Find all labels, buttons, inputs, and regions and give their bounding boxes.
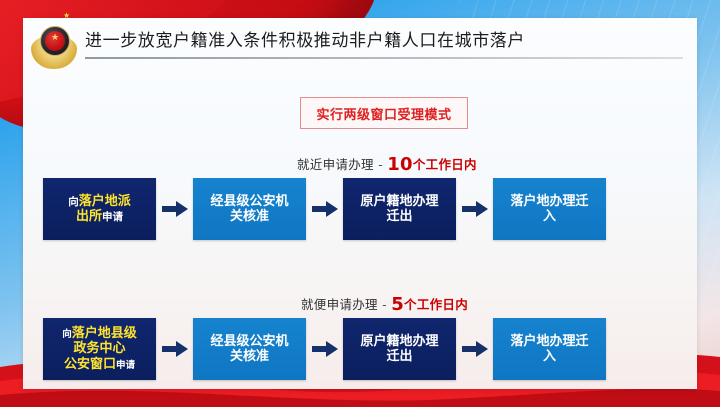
callout-banner: 实行两级窗口受理模式 [300, 97, 468, 129]
flow-row-2: 向落户地县级政务中心公安窗口申请经县级公安机关核准原户籍地办理迁出落户地办理迁入 [43, 318, 606, 380]
arrow-right-icon [156, 178, 193, 240]
page-title: 进一步放宽户籍准入条件积极推动非户籍人口在城市落户 [85, 26, 525, 51]
flow-node-segment: 公安窗口 [64, 357, 116, 372]
flow-row-1: 向落户地派出所申请经县级公安机关核准原户籍地办理迁出落户地办理迁入 [43, 178, 606, 240]
label-days-unit: 个工作日内 [404, 297, 468, 312]
label-prefix: 就便申请办理 [301, 297, 378, 312]
content-card: ★ 进一步放宽户籍准入条件积极推动非户籍人口在城市落户 实行两级窗口受理模式 就… [23, 18, 697, 389]
arrow-right-icon [456, 178, 493, 240]
flow-node-r2-1[interactable]: 向落户地县级政务中心公安窗口申请 [43, 318, 156, 380]
flow-node-segment: 出所 [76, 209, 102, 224]
flow-node-r1-2[interactable]: 经县级公安机关核准 [193, 178, 306, 240]
flow-node-r1-3[interactable]: 原户籍地办理迁出 [343, 178, 456, 240]
flow-node-text: 经县级公安机关核准 [210, 194, 288, 225]
card-header: ★ 进一步放宽户籍准入条件积极推动非户籍人口在城市落户 [23, 18, 697, 64]
label-days-number: 5 [391, 294, 404, 315]
flow-node-text: 落户地办理迁入 [510, 194, 588, 225]
flow-node-segment: 落户地办理迁 [510, 194, 588, 209]
flow-node-segment: 经县级公安机 [210, 194, 288, 209]
flow-node-segment: 政务中心 [73, 341, 125, 356]
flow-node-segment: 迁出 [386, 349, 412, 364]
flow-node-segment: 入 [543, 349, 556, 364]
badge-core: ★ [40, 26, 70, 56]
flow-node-segment: 落户地派 [79, 194, 131, 209]
label-separator: - [378, 157, 383, 172]
flow-row-label-1: 就近申请办理 - 10个工作日内 [297, 154, 477, 175]
label-prefix: 就近申请办理 [297, 157, 374, 172]
flow-node-segment: 落户地县级 [72, 326, 137, 341]
flow-node-r2-3[interactable]: 原户籍地办理迁出 [343, 318, 456, 380]
label-days-unit: 个工作日内 [413, 157, 477, 172]
flow-node-segment: 原户籍地办理 [360, 334, 438, 349]
flow-node-segment: 原户籍地办理 [360, 194, 438, 209]
badge-inner-red: ★ [45, 31, 65, 51]
arrow-right-icon [156, 318, 193, 380]
header-divider [85, 57, 683, 59]
flow-node-text: 经县级公安机关核准 [210, 334, 288, 365]
flow-node-r1-4[interactable]: 落户地办理迁入 [493, 178, 606, 240]
police-badge-icon: ★ [31, 19, 77, 71]
flow-node-r1-1[interactable]: 向落户地派出所申请 [43, 178, 156, 240]
flow-node-text: 向落户地派出所申请 [68, 194, 131, 225]
label-separator: - [382, 297, 387, 312]
callout-text: 实行两级窗口受理模式 [316, 104, 451, 123]
flow-node-segment: 入 [543, 209, 556, 224]
flow-node-r2-2[interactable]: 经县级公安机关核准 [193, 318, 306, 380]
flow-node-segment: 落户地办理迁 [510, 334, 588, 349]
flow-node-text: 原户籍地办理迁出 [360, 194, 438, 225]
flow-node-text: 原户籍地办理迁出 [360, 334, 438, 365]
flow-node-text: 向落户地县级政务中心公安窗口申请 [62, 326, 137, 372]
flow-node-segment: 向 [68, 196, 79, 208]
badge-emblem-glyph: ★ [45, 34, 65, 43]
flow-node-segment: 迁出 [386, 209, 412, 224]
arrow-right-icon [306, 178, 343, 240]
flow-node-segment: 申请 [102, 211, 123, 223]
flow-node-segment: 关核准 [230, 349, 269, 364]
flow-node-text: 落户地办理迁入 [510, 334, 588, 365]
arrow-right-icon [456, 318, 493, 380]
flow-row-label-2: 就便申请办理 - 5个工作日内 [301, 294, 468, 315]
flow-node-r2-4[interactable]: 落户地办理迁入 [493, 318, 606, 380]
flow-node-segment: 申请 [116, 360, 135, 371]
flow-node-segment: 关核准 [230, 209, 269, 224]
arrow-right-icon [306, 318, 343, 380]
flow-node-segment: 向 [62, 329, 72, 340]
flow-node-segment: 经县级公安机 [210, 334, 288, 349]
label-days-number: 10 [387, 154, 413, 175]
